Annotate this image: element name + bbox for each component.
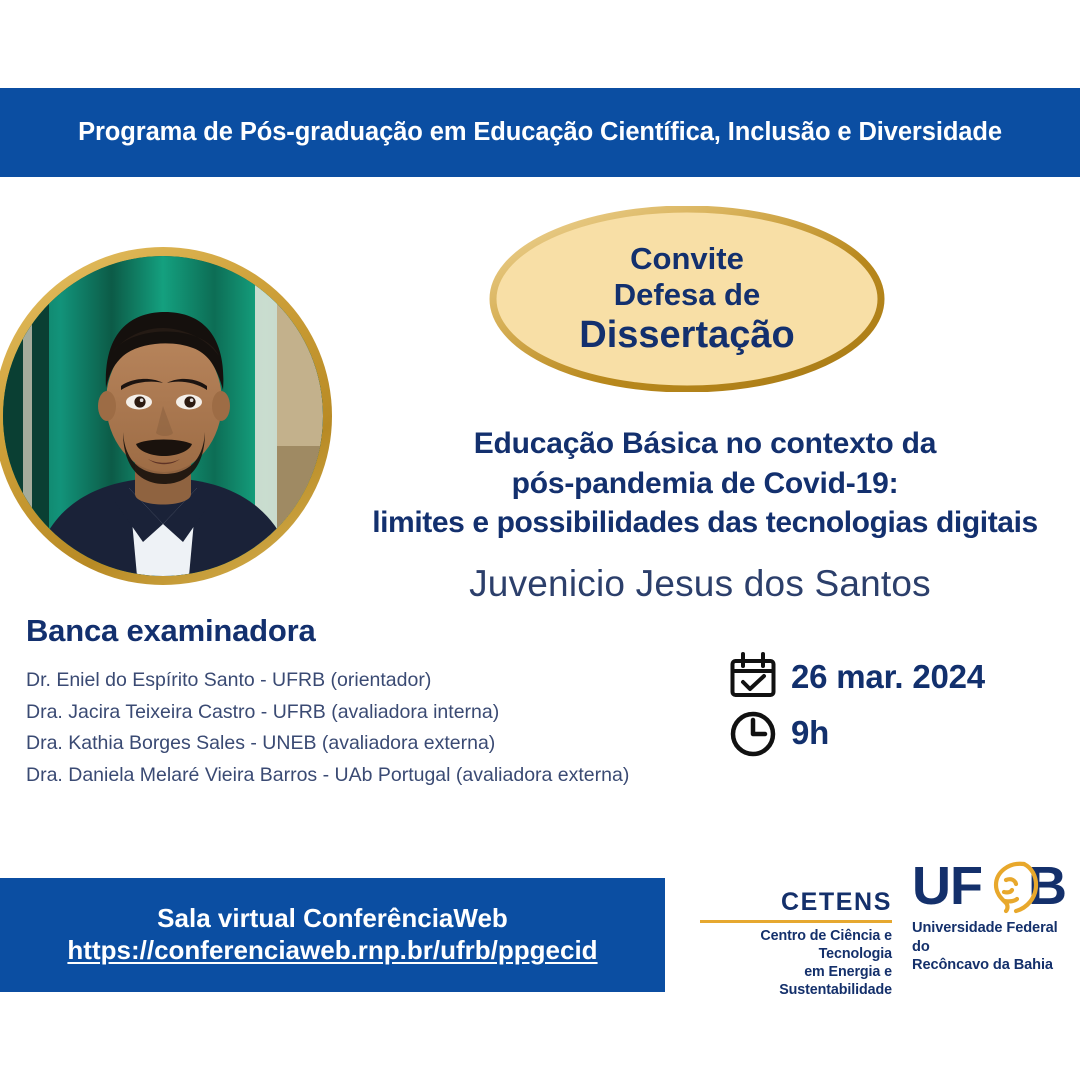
portrait-photo bbox=[3, 256, 323, 576]
schedule-date-row: 26 mar. 2024 bbox=[727, 650, 985, 702]
program-header-band: Programa de Pós-graduação em Educação Ci… bbox=[0, 88, 1080, 177]
invitation-badge: Convite Defesa de Dissertação bbox=[489, 206, 885, 392]
thesis-title-line-2: pós-pandemia de Covid-19: bbox=[330, 464, 1080, 504]
thesis-title-line-1: Educação Básica no contexto da bbox=[330, 424, 1080, 464]
badge-line-1: Convite bbox=[630, 241, 744, 277]
committee-list: Dr. Eniel do Espírito Santo - UFRB (orie… bbox=[26, 665, 726, 791]
badge-line-2: Defesa de bbox=[614, 277, 760, 313]
author-name: Juvenicio Jesus dos Santos bbox=[330, 563, 1070, 605]
ufrb-subtitle-line-1: Universidade Federal do bbox=[912, 919, 1072, 956]
committee-heading: Banca examinadora bbox=[26, 613, 316, 649]
schedule-block: 26 mar. 2024 9h bbox=[727, 650, 985, 758]
virtual-room-link[interactable]: https://conferenciaweb.rnp.br/ufrb/ppgec… bbox=[67, 934, 597, 968]
ufrb-subtitle: Universidade Federal do Recôncavo da Bah… bbox=[912, 919, 1072, 975]
virtual-room-label: Sala virtual ConferênciaWeb bbox=[157, 902, 508, 935]
calendar-icon bbox=[727, 650, 779, 702]
list-item: Dra. Daniela Melaré Vieira Barros - UAb … bbox=[26, 760, 726, 792]
cetens-logo: CETENS Centro de Ciência e Tecnologia em… bbox=[700, 890, 892, 1000]
ufrb-subtitle-line-2: Recôncavo da Bahia bbox=[912, 956, 1072, 975]
portrait-illustration bbox=[3, 256, 323, 576]
cetens-wordmark: CETENS bbox=[700, 890, 892, 915]
avatar bbox=[0, 247, 332, 585]
cetens-subtitle: Centro de Ciência e Tecnologia em Energi… bbox=[700, 927, 892, 1000]
cetens-subtitle-line-2: em Energia e Sustentabilidade bbox=[700, 963, 892, 1000]
list-item: Dra. Jacira Teixeira Castro - UFRB (aval… bbox=[26, 697, 726, 729]
event-date: 26 mar. 2024 bbox=[791, 660, 985, 693]
clock-icon bbox=[727, 706, 779, 758]
ufrb-logo: UF B Universidade Federal do Recôncavo d… bbox=[912, 858, 1072, 975]
list-item: Dra. Kathia Borges Sales - UNEB (avaliad… bbox=[26, 728, 726, 760]
thesis-title-line-3: limites e possibilidades das tecnologias… bbox=[330, 503, 1080, 543]
cetens-subtitle-line-1: Centro de Ciência e Tecnologia bbox=[700, 927, 892, 964]
ufrb-wordmark-icon: UF B bbox=[912, 858, 1072, 916]
schedule-time-row: 9h bbox=[727, 706, 985, 758]
list-item: Dr. Eniel do Espírito Santo - UFRB (orie… bbox=[26, 665, 726, 697]
program-title: Programa de Pós-graduação em Educação Ci… bbox=[78, 118, 1002, 147]
poster-canvas: Programa de Pós-graduação em Educação Ci… bbox=[0, 0, 1080, 1080]
cetens-divider bbox=[700, 920, 892, 923]
svg-text:UF: UF bbox=[912, 858, 982, 916]
event-time: 9h bbox=[791, 716, 829, 749]
virtual-room-band: Sala virtual ConferênciaWeb https://conf… bbox=[0, 878, 665, 992]
badge-text: Convite Defesa de Dissertação bbox=[489, 206, 885, 392]
thesis-title: Educação Básica no contexto da pós-pande… bbox=[330, 424, 1080, 543]
badge-line-3: Dissertação bbox=[579, 313, 794, 357]
